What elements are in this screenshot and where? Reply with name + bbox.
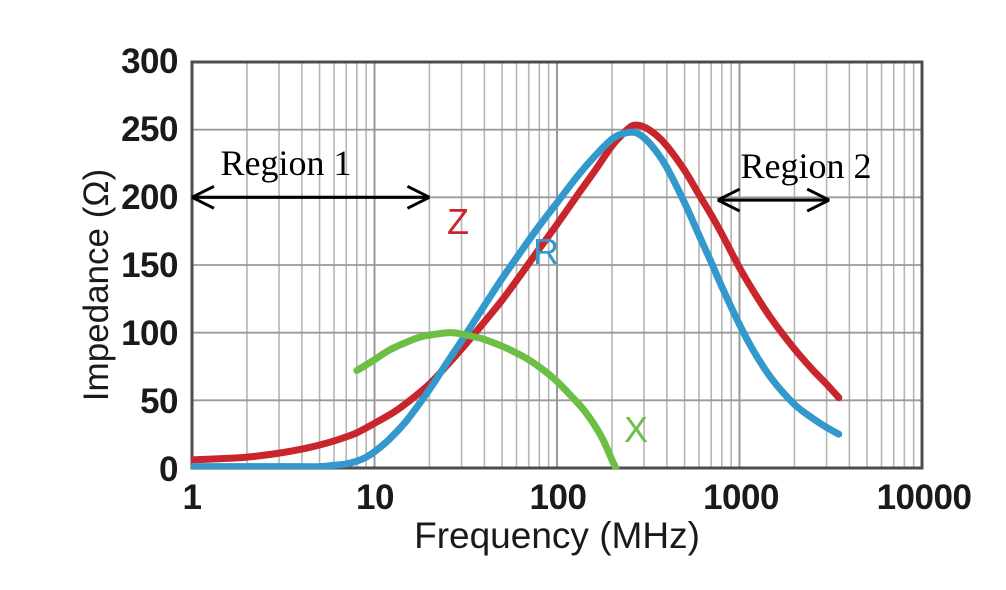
impedance-frequency-chart: 300 250 200 150 100 50 0 1 10 100 1000 1… (0, 0, 1006, 590)
y-axis-title: Impedance (Ω) (77, 120, 117, 450)
x-tick-label-100: 100 (530, 478, 587, 518)
plot-canvas (0, 0, 1006, 590)
x-tick-label-1: 1 (183, 478, 202, 518)
x-axis-title: Frequency (MHz) (192, 515, 922, 557)
y-tick-label-0: 0 (48, 450, 178, 490)
y-tick-label-300: 300 (48, 42, 178, 82)
series-label-r: R (533, 231, 559, 273)
region-1-label: Region 1 (221, 142, 352, 184)
series-label-z: Z (447, 201, 469, 243)
region-2-label: Region 2 (741, 145, 872, 187)
series-label-x: X (624, 409, 648, 451)
x-tick-label-1000: 1000 (703, 478, 779, 518)
region-annotation-arrows (192, 186, 829, 211)
x-tick-label-10000: 10000 (877, 478, 972, 518)
x-tick-label-10: 10 (356, 478, 394, 518)
